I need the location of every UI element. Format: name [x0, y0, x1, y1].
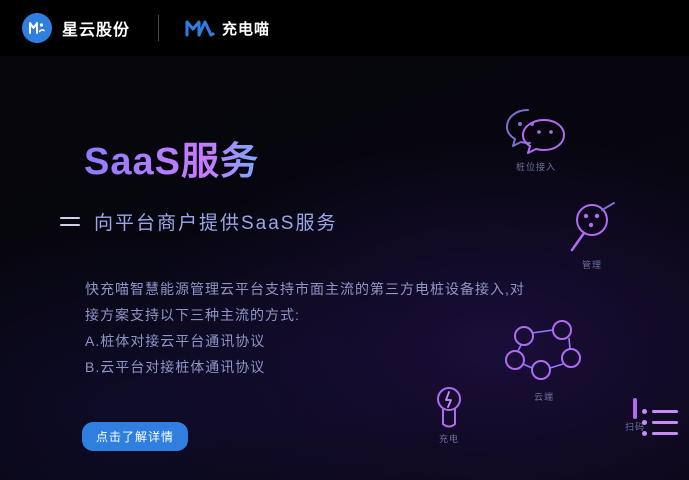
- node-scan: 管理: [556, 200, 628, 271]
- page-root: 星云股份 充电喵 SaaS服务 向平台商户提供SaaS服务 快充喵智慧能源管理云…: [0, 0, 689, 480]
- plug-icon: [556, 200, 628, 256]
- page-subtitle: 向平台商户提供SaaS服务: [94, 208, 337, 235]
- details-button[interactable]: 点击了解详情: [82, 422, 188, 451]
- subtitle-row: 向平台商户提供SaaS服务: [60, 208, 337, 235]
- node-card: 扫码: [604, 400, 666, 433]
- xingyun-logo-icon: [22, 13, 52, 43]
- menu-icon[interactable]: [60, 217, 80, 226]
- charge-gun-icon: [418, 386, 480, 430]
- node-cloud-label: 云端: [498, 390, 590, 403]
- chongdianmiao-logo-icon: [185, 17, 215, 39]
- node-charge-label: 充电: [418, 432, 480, 445]
- cloud-network-icon: [498, 318, 590, 388]
- brand-xingyun[interactable]: 星云股份: [22, 13, 130, 43]
- node-scan-label: 管理: [556, 258, 628, 271]
- sub-brand-name-label: 充电喵: [222, 18, 270, 39]
- node-wechat-label: 桩位接入: [495, 160, 577, 173]
- node-wechat: 桩位接入: [495, 100, 577, 173]
- page-title: SaaS服务: [84, 130, 259, 185]
- brand-chongdianmiao[interactable]: 充电喵: [185, 17, 270, 39]
- brand-name-label: 星云股份: [62, 16, 130, 40]
- node-cloud: 云端: [498, 318, 590, 403]
- app-header: 星云股份 充电喵: [0, 0, 689, 56]
- body-line-1: 快充喵智慧能源管理云平台支持市面主流的第三方电桩设备接入,对: [85, 276, 585, 302]
- header-divider: [158, 15, 159, 41]
- node-charge: 充电: [418, 386, 480, 445]
- id-card-icon: [633, 400, 637, 417]
- wechat-icon: [495, 100, 577, 158]
